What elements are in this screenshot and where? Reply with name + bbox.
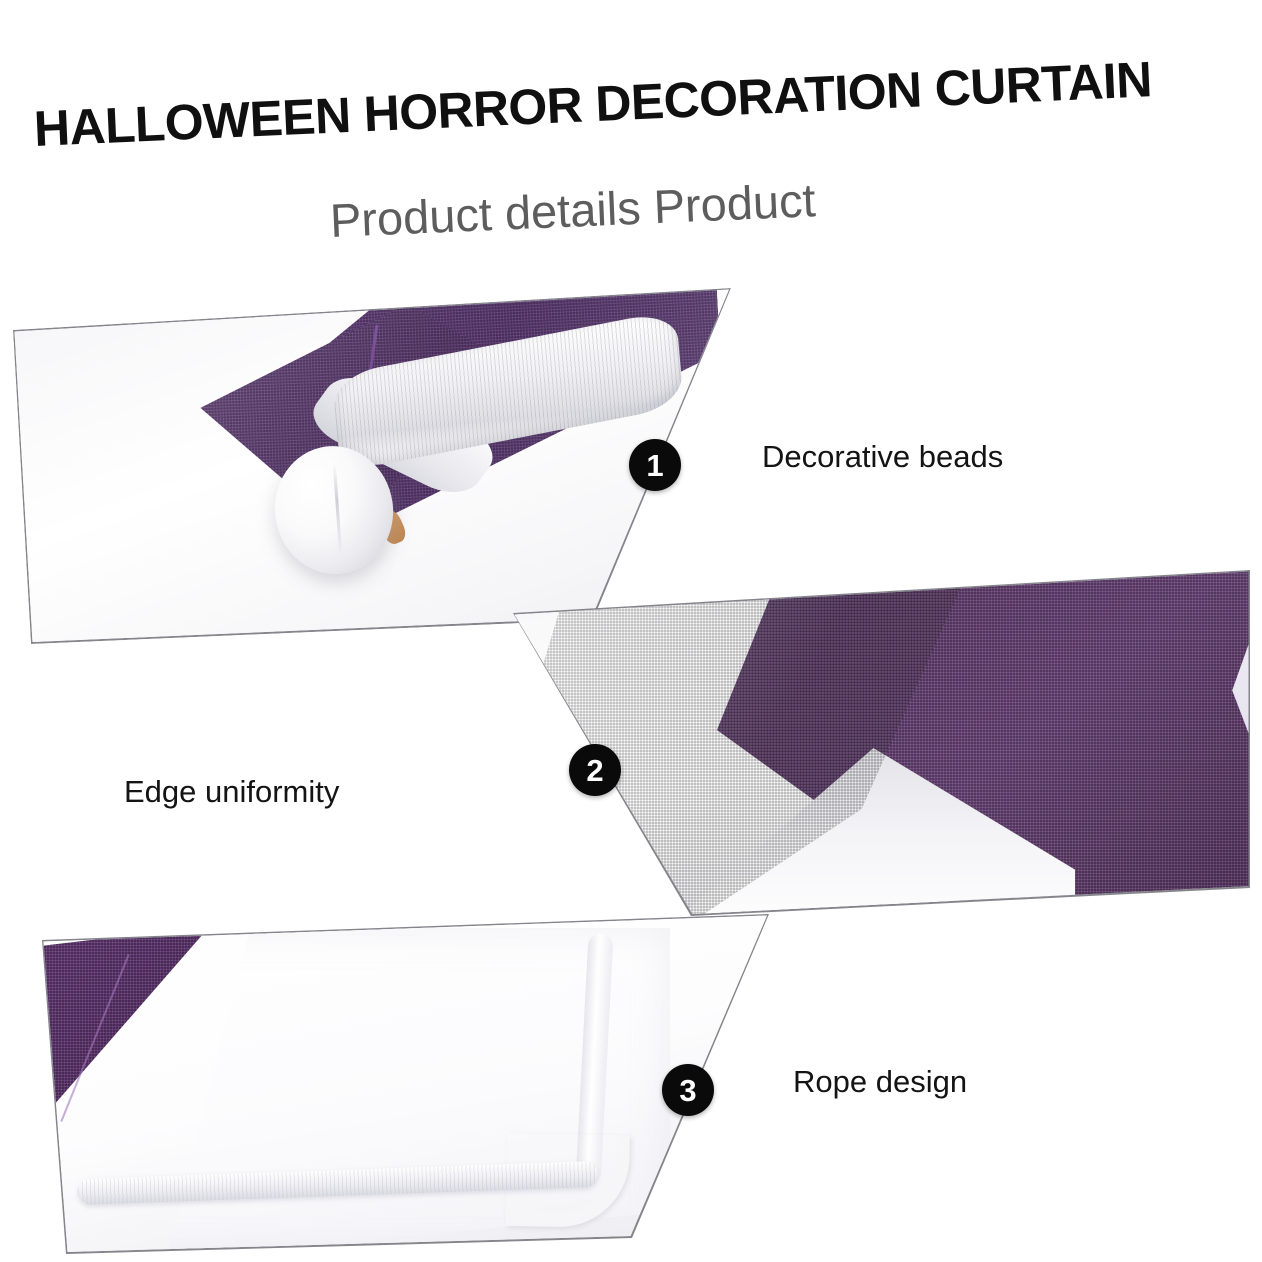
feature-badge-3: 3 bbox=[662, 1064, 714, 1116]
feature-caption-2: Edge uniformity bbox=[124, 775, 339, 809]
header-block: HALLOWEEN HORROR DECORATION CURTAIN Prod… bbox=[0, 0, 1262, 280]
feature-badge-2: 2 bbox=[569, 744, 621, 796]
bead-seam bbox=[333, 463, 342, 555]
panel-2-photo bbox=[505, 568, 1262, 920]
photo-2-star-cutout bbox=[1165, 586, 1262, 766]
feature-caption-3: Rope design bbox=[793, 1065, 967, 1099]
product-detail-infographic: HALLOWEEN HORROR DECORATION CURTAIN Prod… bbox=[0, 0, 1262, 1262]
feature-caption-1: Decorative beads bbox=[762, 440, 1003, 474]
feature-badge-1: 1 bbox=[629, 439, 681, 491]
page-subtitle: Product details Product bbox=[329, 158, 1230, 246]
feature-photo-2 bbox=[505, 568, 1262, 920]
page-title: HALLOWEEN HORROR DECORATION CURTAIN bbox=[33, 51, 1214, 156]
